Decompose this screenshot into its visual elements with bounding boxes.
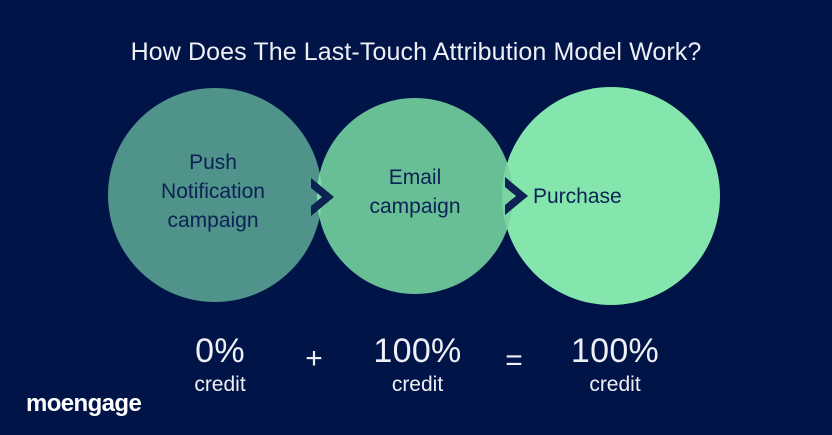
- circle-email: [317, 98, 513, 294]
- credit-unit-label: credit: [345, 371, 490, 398]
- equation-term-push: 0% credit: [150, 332, 290, 398]
- operator-equals: =: [494, 344, 534, 378]
- logo-wordmark: moengage: [26, 391, 141, 417]
- circle-push-notification: [108, 88, 322, 302]
- credit-unit-label: credit: [150, 371, 290, 398]
- credit-percent: 100%: [545, 332, 685, 370]
- credit-unit-label: credit: [545, 371, 685, 398]
- credit-percent: 100%: [345, 332, 490, 370]
- credit-percent: 0%: [150, 332, 290, 370]
- circle-purchase: [502, 87, 720, 305]
- equation-term-total: 100% credit: [545, 332, 685, 398]
- operator-plus: +: [294, 342, 334, 376]
- equation-term-email: 100% credit: [345, 332, 490, 398]
- infographic-canvas: How Does The Last-Touch Attribution Mode…: [0, 0, 832, 435]
- brand-logo: moengage: [26, 391, 141, 417]
